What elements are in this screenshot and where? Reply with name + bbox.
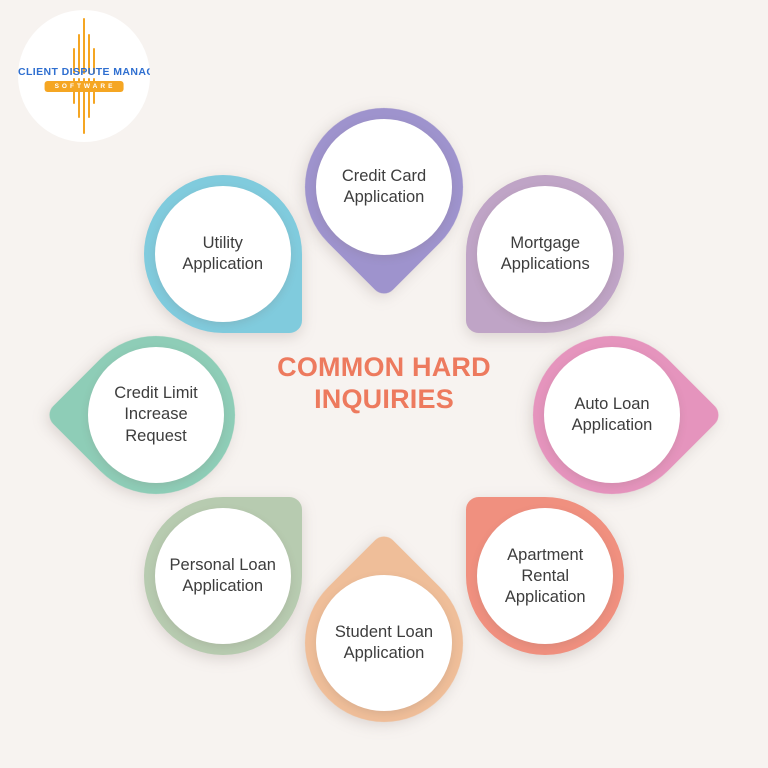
node-auto-loan-application[interactable]: Auto LoanApplication — [533, 336, 691, 494]
node-credit-card-application[interactable]: Credit CardApplication — [305, 108, 463, 266]
node-label-mortgage-applications: MortgageApplications — [493, 233, 598, 275]
node-label-personal-loan-application: Personal LoanApplication — [162, 555, 284, 597]
node-label-credit-limit-increase-request: Credit LimitIncreaseRequest — [106, 383, 205, 446]
label-bubble-utility-application: UtilityApplication — [155, 186, 291, 322]
node-label-student-loan-application: Student LoanApplication — [327, 622, 441, 664]
logo-subtitle-badge: SOFTWARE — [45, 81, 124, 92]
infographic-canvas: CLIENT DISPUTE MANAGER SOFTWARE COMMON H… — [0, 0, 768, 768]
node-utility-application[interactable]: UtilityApplication — [144, 175, 302, 333]
node-personal-loan-application[interactable]: Personal LoanApplication — [144, 497, 302, 655]
node-credit-limit-increase-request[interactable]: Credit LimitIncreaseRequest — [77, 336, 235, 494]
label-bubble-auto-loan-application: Auto LoanApplication — [544, 347, 680, 483]
label-bubble-credit-card-application: Credit CardApplication — [316, 119, 452, 255]
node-apartment-rental-application[interactable]: ApartmentRentalApplication — [466, 497, 624, 655]
label-bubble-credit-limit-increase-request: Credit LimitIncreaseRequest — [88, 347, 224, 483]
page-title-line-1: COMMON HARD — [234, 352, 534, 384]
node-label-apartment-rental-application: ApartmentRentalApplication — [497, 545, 594, 608]
label-bubble-personal-loan-application: Personal LoanApplication — [155, 508, 291, 644]
page-title-line-2: INQUIRIES — [234, 384, 534, 416]
page-title: COMMON HARD INQUIRIES — [234, 352, 534, 416]
logo-wordmark: CLIENT DISPUTE MANAGER — [18, 66, 150, 78]
label-bubble-mortgage-applications: MortgageApplications — [477, 186, 613, 322]
node-label-auto-loan-application: Auto LoanApplication — [564, 394, 661, 436]
label-bubble-apartment-rental-application: ApartmentRentalApplication — [477, 508, 613, 644]
node-student-loan-application[interactable]: Student LoanApplication — [305, 564, 463, 722]
node-label-credit-card-application: Credit CardApplication — [334, 166, 434, 208]
brand-logo: CLIENT DISPUTE MANAGER SOFTWARE — [18, 10, 150, 142]
label-bubble-student-loan-application: Student LoanApplication — [316, 575, 452, 711]
node-label-utility-application: UtilityApplication — [174, 233, 271, 275]
node-mortgage-applications[interactable]: MortgageApplications — [466, 175, 624, 333]
